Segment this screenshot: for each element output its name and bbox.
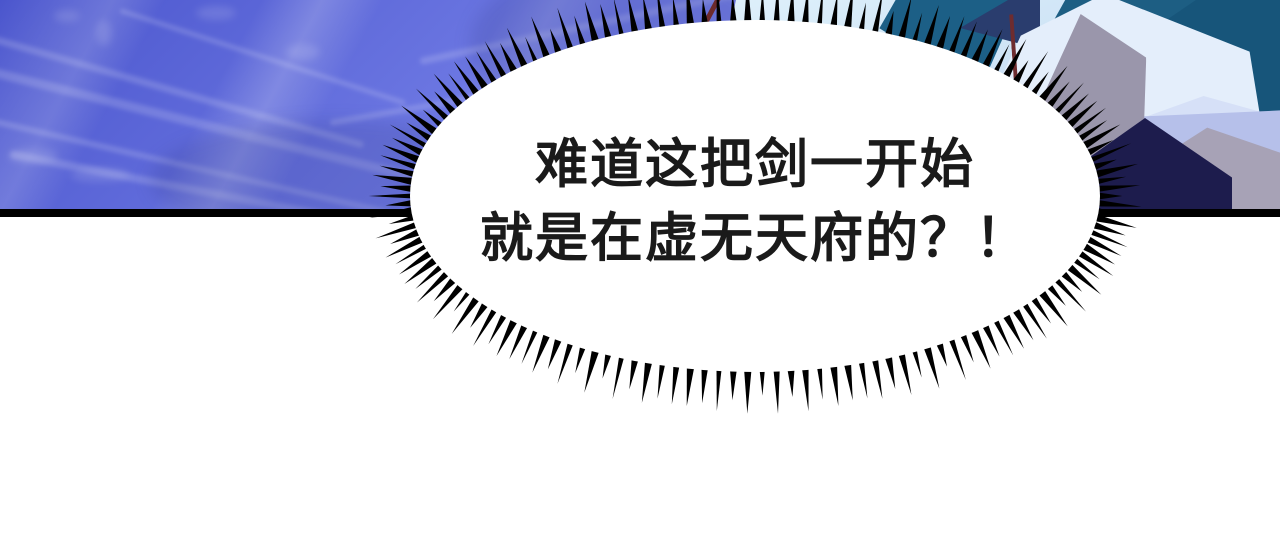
bubble-spike bbox=[773, 366, 780, 414]
bubble-spike bbox=[744, 366, 752, 414]
comic-panel: 难道这把剑一开始 就是在虚无天府的？！ bbox=[0, 0, 1280, 534]
bubble-spike bbox=[801, 364, 808, 411]
bubble-spike bbox=[370, 206, 418, 218]
bubble-spike bbox=[716, 365, 722, 411]
bubble-spike bbox=[613, 352, 626, 399]
bubble-spike bbox=[1093, 199, 1141, 206]
speech-bubble: 难道这把剑一开始 就是在虚无天府的？！ bbox=[0, 0, 1280, 534]
bubble-text: 难道这把剑一开始 就是在虚无天府的？！ bbox=[420, 128, 1090, 276]
bubble-spike bbox=[1093, 185, 1140, 192]
bubble-line-2: 就是在虚无天府的？！ bbox=[420, 202, 1090, 276]
bubble-line-1: 难道这把剑一开始 bbox=[420, 128, 1090, 202]
bubble-spike bbox=[369, 193, 416, 198]
